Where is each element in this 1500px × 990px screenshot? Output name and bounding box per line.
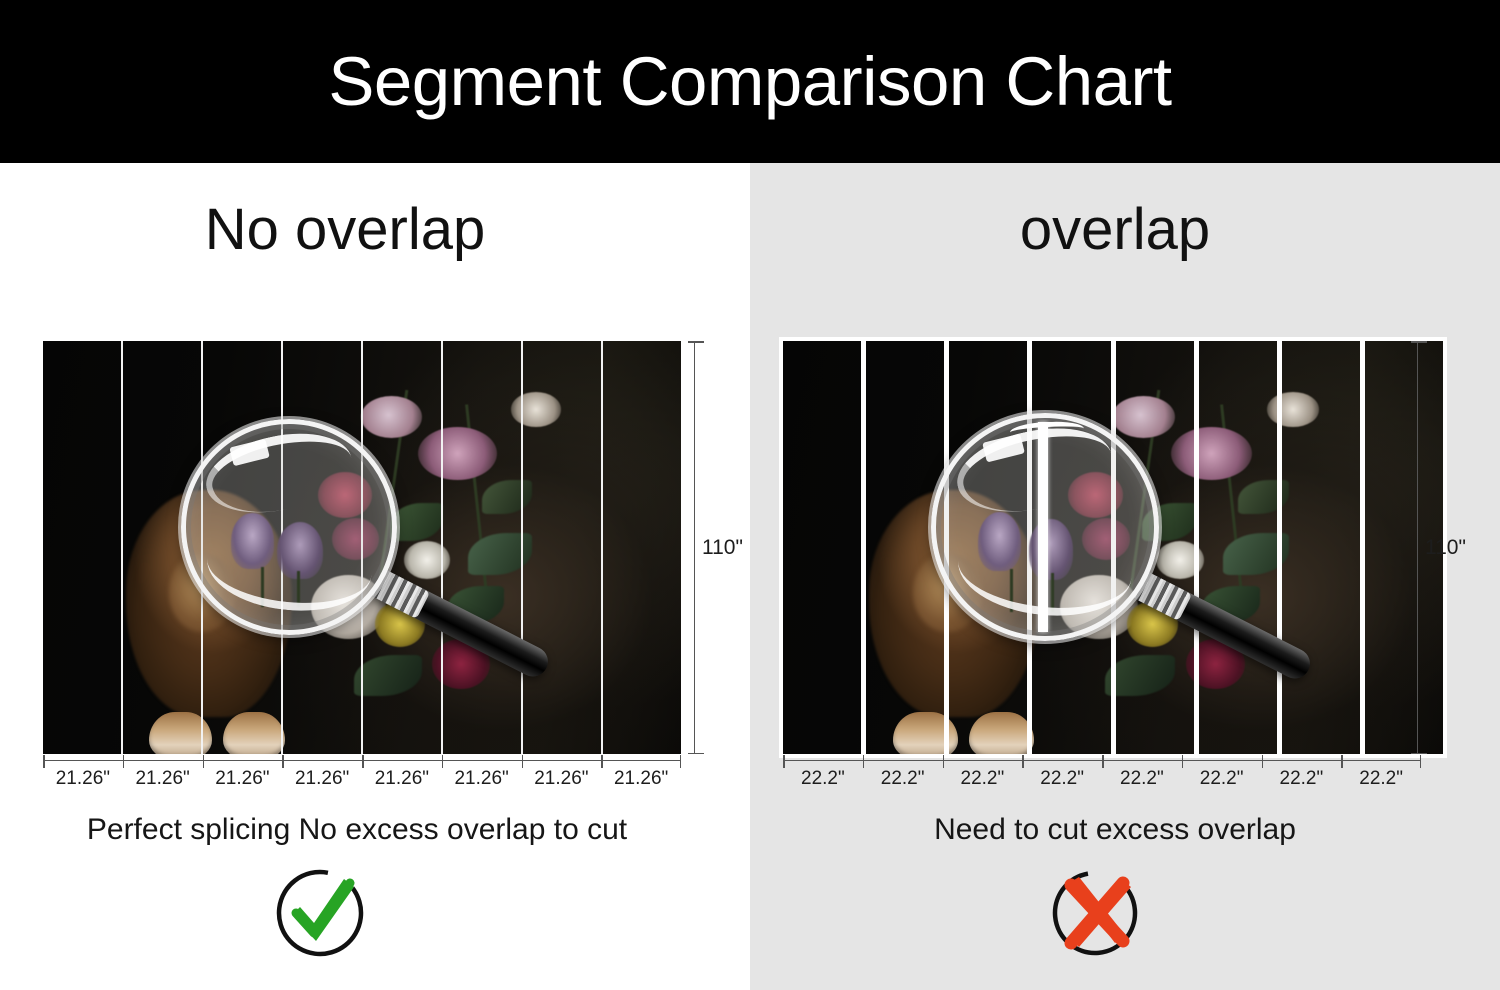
mural-segment	[783, 341, 866, 754]
comparison-panels: No overlap	[0, 163, 1500, 990]
segment-width-label: 21.26"	[282, 764, 362, 794]
segment-width-label: 22.2"	[1022, 764, 1102, 794]
width-ruler-no-overlap: 21.26" 21.26" 21.26" 21.26" 21.26" 21.26…	[43, 760, 681, 806]
mural-segment	[1199, 341, 1282, 754]
red-cross-icon	[1045, 863, 1145, 963]
magnifier-lens	[181, 419, 397, 635]
mural-segment	[521, 341, 601, 754]
panel-title-overlap: overlap	[740, 201, 1490, 259]
segment-width-label: 22.2"	[1262, 764, 1342, 794]
width-ruler-overlap: 22.2" 22.2" 22.2" 22.2" 22.2" 22.2" 22.2…	[783, 760, 1421, 806]
caption-no-overlap: Perfect splicing No excess overlap to cu…	[0, 815, 732, 845]
mural-segment	[43, 341, 121, 754]
verdict-no-overlap	[0, 863, 695, 963]
green-check-icon	[270, 863, 370, 963]
mural-overlap: 110" 22.2" 22.2"	[783, 341, 1443, 754]
segment-width-label: 21.26"	[522, 764, 602, 794]
height-dimension-overlap: 110"	[1411, 341, 1465, 754]
mural-segment	[1282, 341, 1365, 754]
segment-width-label: 21.26"	[601, 764, 681, 794]
height-dimension-no-overlap: 110"	[688, 341, 742, 754]
segment-width-label: 22.2"	[783, 764, 863, 794]
mural-no-overlap: 110" 21.26" 21.26"	[43, 341, 681, 754]
segment-width-label: 21.26"	[123, 764, 203, 794]
panel-overlap: overlap	[750, 163, 1500, 990]
segment-width-label: 21.26"	[203, 764, 283, 794]
magnifier-overlap	[931, 413, 1159, 641]
magnifier-no-overlap	[181, 419, 397, 635]
segment-comparison-page: Segment Comparison Chart No overlap	[0, 0, 1500, 990]
segment-width-label: 21.26"	[442, 764, 522, 794]
segment-width-label: 21.26"	[43, 764, 123, 794]
panel-no-overlap: No overlap	[0, 163, 750, 990]
mural-segment	[601, 341, 681, 754]
verdict-overlap	[720, 863, 1470, 963]
segment-width-label: 22.2"	[1182, 764, 1262, 794]
magnifier-lens	[931, 413, 1159, 641]
segment-width-label: 21.26"	[362, 764, 442, 794]
page-title: Segment Comparison Chart	[328, 47, 1171, 116]
segment-width-label: 22.2"	[863, 764, 943, 794]
caption-overlap: Need to cut excess overlap	[740, 815, 1490, 845]
segment-width-label: 22.2"	[943, 764, 1023, 794]
height-label: 110"	[1425, 536, 1466, 560]
page-header: Segment Comparison Chart	[0, 0, 1500, 163]
segment-width-label: 22.2"	[1341, 764, 1421, 794]
mural-segment	[441, 341, 521, 754]
panel-title-no-overlap: No overlap	[0, 201, 720, 259]
segment-width-label: 22.2"	[1102, 764, 1182, 794]
height-label: 110"	[702, 536, 743, 560]
